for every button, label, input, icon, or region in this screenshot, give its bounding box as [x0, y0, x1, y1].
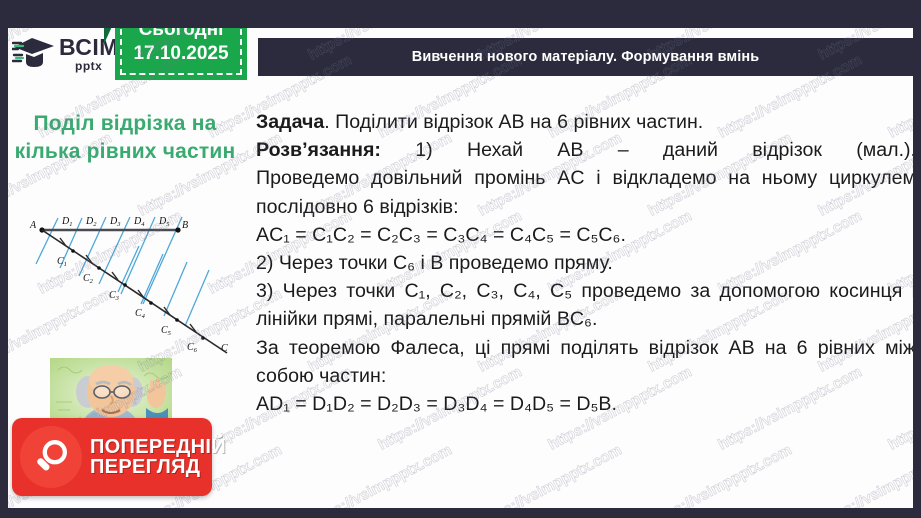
graduation-cap-icon [12, 34, 58, 74]
slide-frame-left [0, 0, 8, 518]
slide-canvas: ВСІМ pptx Сьогодні 17.10.2025 Вивчення н… [0, 0, 921, 518]
sidebar-title: Поділ відрізка на кілька рівних частин [10, 110, 240, 165]
thales-theorem-diagram: A B C C1 C2 C3 C4 C5 C6 D1 D2 D3 D4 D5 [22, 212, 234, 372]
solution-step1-part1: 1) Нехай AB – даний відрізок (мал.). [415, 139, 916, 161]
parallel-lines-group [36, 217, 209, 326]
preview-badge[interactable]: ПОПЕРЕДНІЙ ПЕРЕГЛЯД [12, 418, 212, 496]
task-text: . Поділити відрізок AB на 6 рівних части… [324, 111, 703, 133]
label-c1: C1 [57, 256, 67, 268]
preview-badge-line1: ПОПЕРЕДНІЙ [90, 437, 226, 457]
label-c5: C5 [161, 325, 172, 337]
magnifier-icon [20, 426, 82, 488]
header-title: Вивчення нового матеріалу. Формування вм… [412, 49, 760, 65]
solution-step2: 2) Через точки C₆ і B проведемо пряму. [256, 249, 916, 277]
label-d3: D3 [109, 216, 121, 228]
task-label: Задача [256, 111, 324, 133]
sidebar-column: Поділ відрізка на кілька рівних частин [10, 110, 240, 165]
solution-label: Розв’язання: [256, 139, 381, 161]
label-a: A [29, 220, 37, 231]
equation-ad: AD₁ = D₁D₂ = D₂D₃ = D₃D₄ = D₄D₅ = D₅B. [256, 390, 916, 418]
equation-ac: AC₁ = C₁C₂ = C₂C₃ = C₃C₄ = C₄C₅ = C₅C₆. [256, 221, 916, 249]
slide-frame-right [913, 0, 921, 518]
solution-step1-line2: Проведемо довільний промінь AC і відклад… [256, 164, 916, 220]
label-d1: D1 [61, 216, 72, 228]
label-c: C [221, 343, 228, 354]
label-d4: D4 [133, 216, 145, 228]
label-d5: D5 [158, 216, 170, 228]
task-line: Задача. Поділити відрізок AB на 6 рівних… [256, 108, 916, 136]
label-b: B [182, 220, 188, 231]
slide-frame-top [0, 0, 921, 28]
date-badge-value: 17.10.2025 [133, 42, 228, 66]
preview-badge-line2: ПЕРЕГЛЯД [90, 457, 226, 477]
slide-frame-bottom [0, 508, 921, 518]
label-c4: C4 [135, 308, 146, 320]
lesson-body-text: Задача. Поділити відрізок AB на 6 рівних… [256, 108, 916, 418]
label-c6: C6 [187, 342, 198, 354]
label-d2: D2 [85, 216, 97, 228]
thales-conclusion: За теоремою Фалеса, ці прямі поділять ві… [256, 334, 916, 390]
logo-subtitle: pptx [75, 60, 119, 72]
label-c2: C2 [83, 273, 94, 285]
solution-step1-line1: Розв’язання: 1) Нехай AB – даний відрізо… [256, 136, 916, 164]
header-bar: Вивчення нового матеріалу. Формування вм… [258, 38, 913, 76]
solution-step3: 3) Через точки C₁, C₂, C₃, C₄, C₅ провед… [256, 277, 916, 333]
